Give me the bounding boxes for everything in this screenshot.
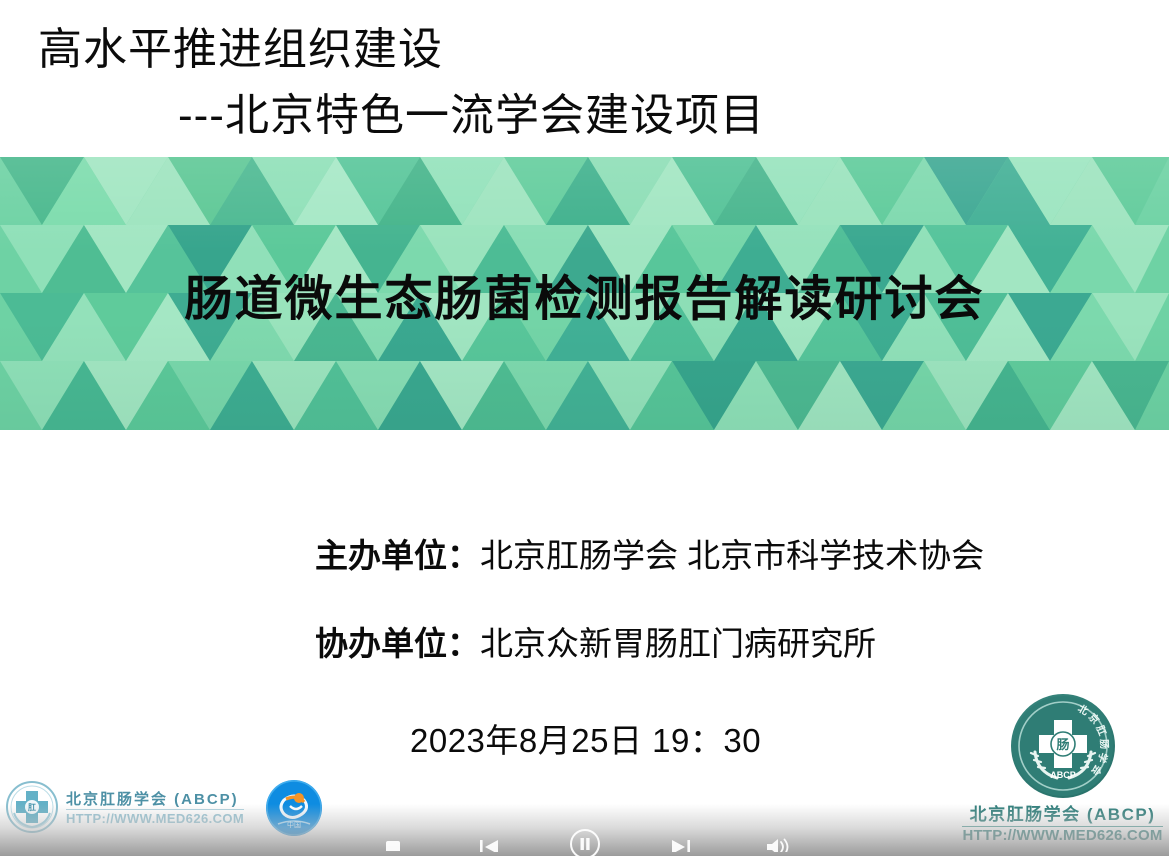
header-title-line1: 高水平推进组织建设	[38, 22, 443, 77]
pause-button[interactable]	[568, 822, 602, 856]
stop-button[interactable]	[376, 822, 410, 856]
video-player-control-bar[interactable]	[0, 804, 1169, 856]
svg-text:肠: 肠	[1056, 737, 1069, 752]
previous-track-button[interactable]	[472, 822, 506, 856]
cohost-value: 北京众新胃肠肛门病研究所	[480, 625, 876, 662]
cohost-organization-line: 协办单位：北京众新胃肠肛门病研究所	[315, 624, 876, 664]
emblem-abcp-text: ABCP	[1050, 770, 1076, 780]
host-organization-line: 主办单位：北京肛肠学会 北京市科学技术协会	[315, 536, 984, 576]
banner-title-text: 肠道微生态肠菌检测报告解读研讨会	[0, 157, 1169, 430]
title-banner: 肠道微生态肠菌检测报告解读研讨会	[0, 157, 1169, 430]
header-title-line2: ---北京特色一流学会建设项目	[178, 88, 765, 143]
host-value: 北京肛肠学会 北京市科学技术协会	[480, 537, 984, 574]
event-datetime: 2023年8月25日 19：30	[410, 714, 761, 762]
host-label: 主办单位：	[315, 537, 480, 574]
next-track-button[interactable]	[664, 822, 698, 856]
volume-button[interactable]	[760, 822, 794, 856]
slide-canvas: 高水平推进组织建设 ---北京特色一流学会建设项目	[0, 0, 1169, 856]
abcp-teal-emblem-icon: 北 京 肛 肠 学 会 肠 ABCP	[1011, 694, 1115, 798]
cohost-label: 协办单位：	[315, 625, 480, 662]
